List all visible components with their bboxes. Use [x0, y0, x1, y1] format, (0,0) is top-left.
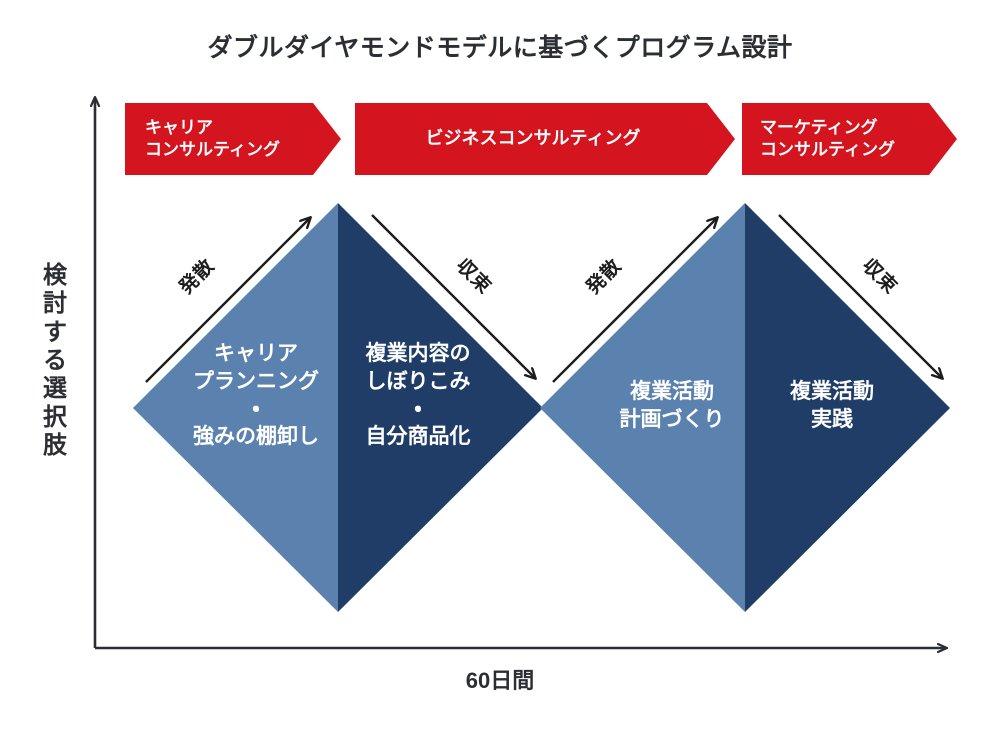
y-axis-label: 検討する選択肢 [34, 262, 76, 460]
stream-banner-marketing-label: マーケティング コンサルティング [760, 117, 895, 161]
second-diamond-right-half [745, 203, 950, 612]
first-diamond-right-half [338, 203, 543, 612]
stream-banner-career-label: キャリア コンサルティング [145, 117, 280, 161]
first-diamond-left-half [133, 203, 338, 612]
first-diamond [133, 203, 543, 612]
x-axis-label: 60日間 [0, 663, 1000, 695]
second-diamond-left-half [540, 203, 745, 612]
second-diamond [540, 203, 950, 612]
diagram-canvas: ダブルダイヤモンドモデルに基づくプログラム設計 [0, 0, 1000, 733]
stream-banner-business-label: ビジネスコンサルティング [426, 127, 641, 150]
stream-banner-career[interactable]: キャリア コンサルティング [125, 103, 341, 175]
stream-banner-business[interactable]: ビジネスコンサルティング [355, 103, 735, 175]
stream-banner-marketing[interactable]: マーケティング コンサルティング [742, 103, 957, 175]
